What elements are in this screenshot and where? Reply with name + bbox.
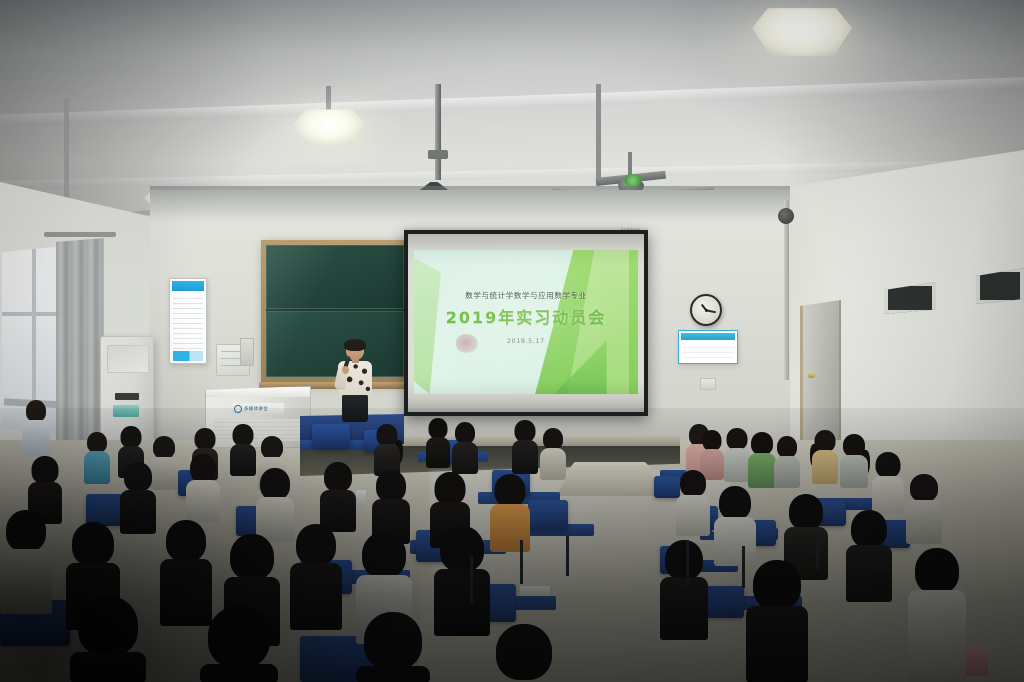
student-head bbox=[440, 526, 484, 572]
student-body bbox=[774, 456, 800, 488]
student-head bbox=[515, 420, 536, 442]
student-body bbox=[660, 577, 708, 640]
student bbox=[840, 434, 868, 488]
presentation-slide: 数学与统计学数学与应用数学专业 2019年实习动员会 2019.5.17 bbox=[414, 250, 638, 394]
slide-title: 2019年实习动员会 bbox=[414, 304, 638, 328]
ac-display-panel bbox=[115, 393, 139, 400]
student-body bbox=[846, 545, 892, 602]
student-head bbox=[208, 606, 270, 668]
student-body bbox=[906, 500, 942, 544]
student bbox=[290, 524, 342, 630]
student-body bbox=[724, 448, 750, 482]
student-body bbox=[230, 444, 256, 476]
student bbox=[22, 400, 50, 456]
student-body bbox=[840, 455, 868, 488]
student bbox=[748, 432, 776, 488]
student-head bbox=[324, 462, 352, 492]
student-head bbox=[6, 510, 46, 552]
student-head bbox=[789, 494, 823, 530]
student-head bbox=[910, 474, 938, 502]
student-head bbox=[496, 624, 552, 680]
student-head bbox=[753, 560, 801, 610]
student bbox=[872, 452, 904, 514]
student bbox=[186, 454, 220, 522]
lamp-dome bbox=[752, 6, 852, 58]
notice-body bbox=[682, 343, 734, 360]
student-body bbox=[426, 437, 450, 468]
lectern-logo: 多媒体讲台 bbox=[232, 403, 284, 414]
student-body bbox=[540, 448, 566, 480]
student-head bbox=[777, 436, 797, 458]
student-body bbox=[22, 420, 50, 456]
door-handle-icon[interactable] bbox=[808, 372, 815, 378]
lamp-dome bbox=[294, 108, 364, 146]
student bbox=[200, 606, 278, 682]
student-head bbox=[195, 428, 216, 450]
student-head bbox=[364, 612, 422, 670]
student-body bbox=[746, 606, 808, 682]
student-body bbox=[0, 549, 52, 614]
presenter-hand bbox=[342, 366, 349, 374]
student bbox=[120, 462, 156, 534]
student-head bbox=[124, 462, 152, 492]
projector-pole bbox=[435, 84, 441, 180]
student-body bbox=[186, 480, 220, 522]
presenter-hair bbox=[344, 339, 366, 351]
notice-header bbox=[681, 333, 735, 340]
cup bbox=[356, 490, 366, 506]
student-body bbox=[512, 440, 538, 474]
chair-leg bbox=[566, 536, 569, 576]
poster-header bbox=[172, 281, 204, 291]
student bbox=[812, 430, 838, 484]
student-body bbox=[290, 563, 342, 630]
student-head bbox=[121, 426, 142, 448]
student-head bbox=[429, 418, 448, 439]
student-head bbox=[230, 534, 274, 580]
student-body bbox=[490, 504, 530, 552]
student bbox=[660, 540, 708, 640]
student-body bbox=[200, 664, 278, 682]
student bbox=[774, 436, 800, 488]
chair-leg bbox=[742, 546, 745, 588]
student-body bbox=[812, 450, 838, 484]
class-schedule-poster bbox=[169, 278, 207, 364]
student-head bbox=[455, 422, 475, 444]
student-head bbox=[665, 540, 703, 580]
student bbox=[540, 428, 566, 480]
student bbox=[0, 510, 52, 614]
ac-vent bbox=[107, 345, 149, 373]
poster-footer bbox=[173, 351, 203, 361]
slide-subtitle: 数学与统计学数学与应用数学专业 bbox=[414, 290, 638, 301]
ceiling-lamp bbox=[752, 6, 852, 58]
student bbox=[452, 422, 478, 474]
chair bbox=[312, 424, 350, 448]
student-head bbox=[26, 400, 46, 422]
student bbox=[256, 468, 294, 542]
student bbox=[426, 418, 450, 468]
student-head bbox=[362, 532, 406, 578]
presenter bbox=[334, 340, 376, 422]
ac-logo bbox=[113, 405, 139, 417]
student bbox=[724, 428, 750, 482]
chair-leg bbox=[686, 540, 689, 586]
student-body bbox=[452, 442, 478, 474]
student-body bbox=[748, 453, 776, 488]
student bbox=[230, 424, 256, 476]
student bbox=[356, 612, 430, 682]
lectern-panel bbox=[214, 419, 300, 441]
student-head bbox=[87, 432, 107, 453]
student bbox=[676, 470, 710, 536]
clock-center-pin bbox=[705, 309, 708, 312]
student bbox=[374, 424, 400, 476]
student-body bbox=[84, 451, 110, 484]
student-head bbox=[680, 470, 706, 497]
student-head bbox=[719, 486, 751, 520]
chair bbox=[528, 500, 568, 530]
student-body bbox=[676, 495, 710, 536]
student-head bbox=[153, 436, 175, 459]
stage-step bbox=[556, 466, 664, 496]
student-head bbox=[376, 470, 406, 502]
wall-speaker-icon bbox=[240, 338, 254, 366]
student-head bbox=[296, 524, 336, 566]
student-body bbox=[434, 569, 490, 636]
student-body bbox=[70, 652, 146, 682]
lectern-logo-mark-icon bbox=[234, 405, 242, 413]
student bbox=[846, 510, 892, 602]
student-head bbox=[78, 596, 138, 656]
cup bbox=[966, 646, 988, 676]
student bbox=[320, 462, 356, 532]
curtain bbox=[56, 238, 104, 450]
ceiling-lamp bbox=[294, 108, 364, 146]
student-body bbox=[714, 517, 756, 566]
student bbox=[84, 432, 110, 484]
student-head bbox=[72, 522, 114, 566]
student-body bbox=[356, 666, 430, 682]
presenter-legs bbox=[342, 394, 368, 422]
student-head bbox=[190, 454, 216, 482]
student bbox=[908, 548, 966, 682]
wall-speaker-icon bbox=[778, 208, 794, 224]
student bbox=[512, 420, 538, 474]
slide-date: 2019.5.17 bbox=[414, 338, 638, 345]
chair-leg bbox=[520, 540, 523, 584]
student bbox=[434, 526, 490, 636]
chair-leg bbox=[816, 526, 819, 570]
projector-screen: 数学与统计学数学与应用数学专业 2019年实习动员会 2019.5.17 bbox=[404, 230, 648, 416]
student bbox=[490, 474, 530, 552]
student bbox=[746, 560, 808, 682]
student-head bbox=[876, 452, 901, 478]
curtain-rod bbox=[44, 232, 116, 237]
student-head bbox=[727, 428, 748, 450]
student-head bbox=[915, 548, 959, 594]
chair-leg bbox=[470, 556, 473, 604]
student-head bbox=[435, 472, 466, 505]
book bbox=[520, 586, 550, 596]
student-head bbox=[703, 430, 722, 451]
student-head bbox=[261, 436, 283, 459]
student-head bbox=[543, 428, 563, 450]
student-head bbox=[166, 520, 206, 562]
student-head bbox=[32, 456, 59, 484]
front-wall-shadow bbox=[150, 186, 790, 222]
student bbox=[906, 474, 942, 544]
student bbox=[70, 596, 146, 682]
classroom-photo: SCREEN 数学与统计学数学与应用数学专业 2019年实习动员会 2019.5… bbox=[0, 0, 1024, 682]
wall-clock-icon bbox=[690, 294, 722, 326]
wall-socket-plate bbox=[700, 378, 716, 390]
student-head bbox=[495, 474, 526, 507]
student-head bbox=[851, 510, 887, 548]
screen-surface: 数学与统计学数学与应用数学专业 2019年实习动员会 2019.5.17 bbox=[408, 234, 644, 412]
student-head bbox=[260, 468, 290, 500]
poster-table bbox=[173, 294, 203, 349]
student-body bbox=[908, 590, 966, 682]
student bbox=[714, 486, 756, 566]
student-body bbox=[872, 476, 904, 514]
student-head bbox=[751, 432, 773, 455]
projector-collar bbox=[428, 150, 448, 159]
notice-board bbox=[678, 330, 738, 364]
lectern-logo-text: 多媒体讲台 bbox=[244, 406, 268, 412]
student-head bbox=[233, 424, 254, 446]
student bbox=[488, 624, 560, 682]
wall-conduit bbox=[784, 200, 789, 380]
student-body bbox=[120, 490, 156, 534]
